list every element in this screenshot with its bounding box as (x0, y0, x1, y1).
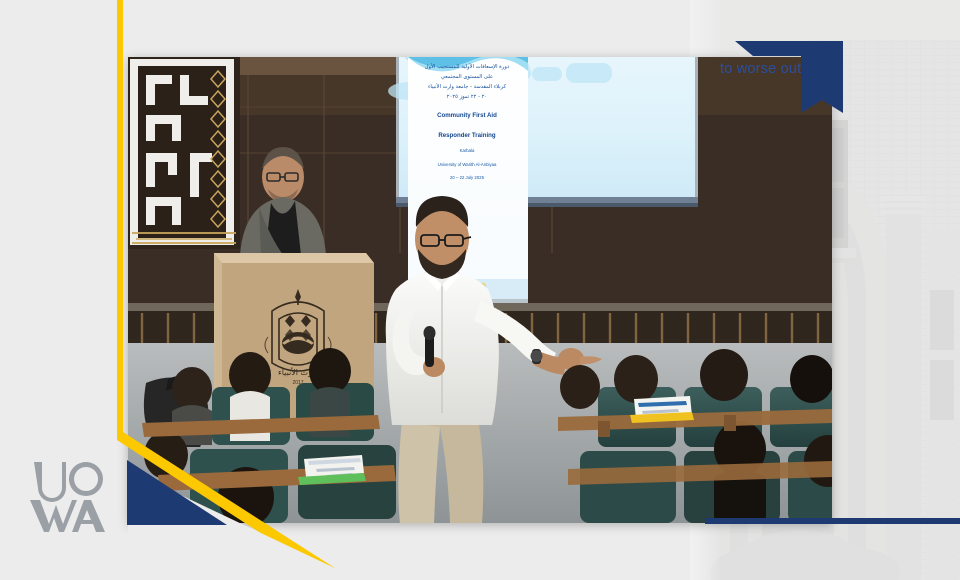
event-photo: وارث الأنبياء 2017 (128, 57, 832, 523)
event-photo-image: وارث الأنبياء 2017 (128, 57, 832, 523)
uowa-logo (28, 452, 112, 536)
banner-canvas: وارث الأنبياء 2017 (0, 0, 960, 580)
projector-slide-text: to worse outc (720, 61, 809, 77)
